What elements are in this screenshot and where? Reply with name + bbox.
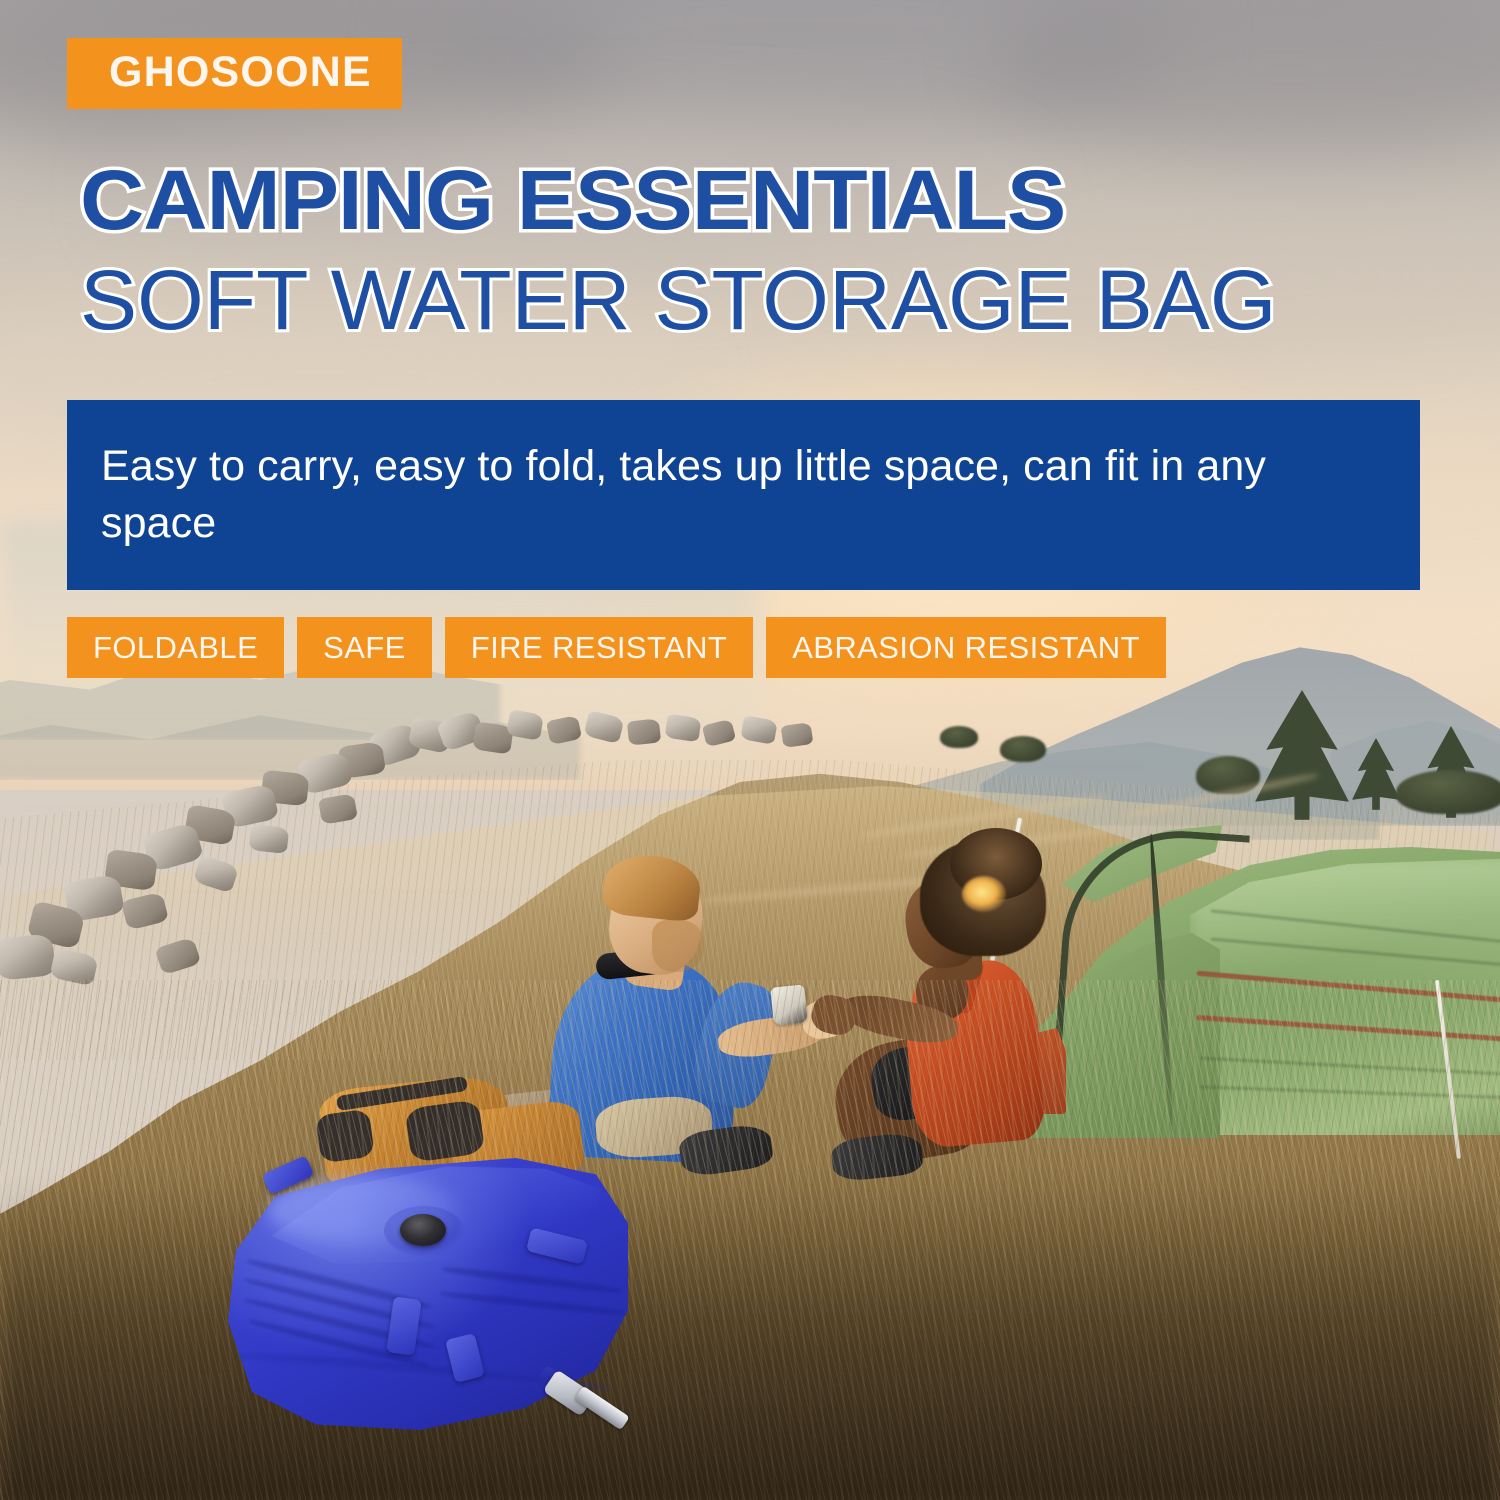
foreground-shadow — [0, 1180, 1500, 1500]
feature-tag-fire-resistant: FIRE RESISTANT — [445, 617, 754, 678]
brand-badge: GHOSOONE — [67, 38, 402, 109]
description-box: Easy to carry, easy to fold, takes up li… — [67, 400, 1420, 590]
water-storage-bag-product — [228, 1158, 648, 1458]
man-beard — [652, 920, 704, 972]
headline-primary: CAMPING ESSENTIALS — [80, 158, 1065, 242]
pine-tree — [1352, 738, 1400, 810]
bag-fill-cap — [400, 1214, 446, 1246]
sun-flare — [962, 876, 1006, 912]
feature-tag-row: FOLDABLE SAFE FIRE RESISTANT ABRASION RE… — [67, 617, 1166, 678]
shrub — [940, 726, 978, 748]
shrub — [1000, 736, 1046, 762]
shrub — [1396, 770, 1500, 814]
pine-tree — [1255, 690, 1349, 820]
product-marketing-poster: GHOSOONE CAMPING ESSENTIALS SOFT WATER S… — [0, 0, 1500, 1500]
headline-secondary: SOFT WATER STORAGE BAG — [80, 258, 1277, 342]
feature-tag-foldable: FOLDABLE — [67, 617, 284, 678]
feature-tag-safe: SAFE — [297, 617, 432, 678]
feature-tag-abrasion-resistant: ABRASION RESISTANT — [766, 617, 1166, 678]
description-text: Easy to carry, easy to fold, takes up li… — [67, 438, 1367, 552]
